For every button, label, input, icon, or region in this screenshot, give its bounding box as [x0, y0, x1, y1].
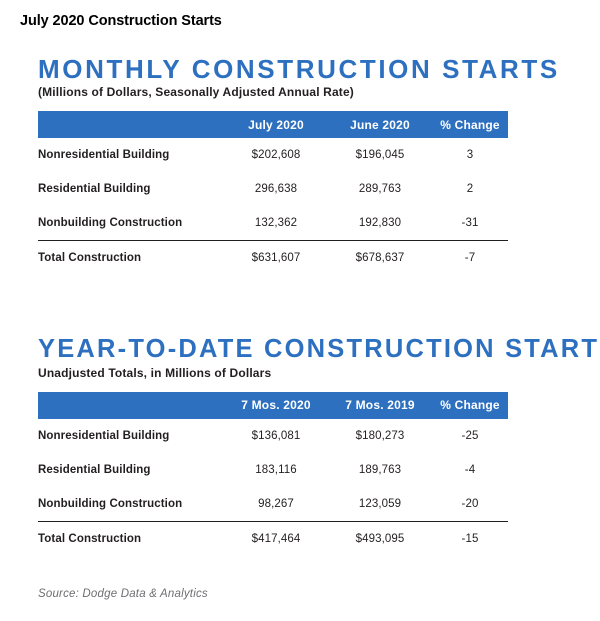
row-label: Nonresidential Building — [38, 138, 224, 172]
table-header-row: 7 Mos. 2020 7 Mos. 2019 % Change — [38, 392, 508, 419]
section-year-to-date-construction-starts: YEAR-TO-DATE CONSTRUCTION STARTS Unadjus… — [0, 336, 600, 556]
row-value-period-1: $136,081 — [224, 419, 328, 453]
total-value-period-2: $493,095 — [328, 521, 432, 556]
table-row: Residential Building 296,638 289,763 2 — [38, 172, 508, 206]
monthly-construction-table: July 2020 June 2020 % Change Nonresident… — [38, 111, 508, 275]
section-subtitle-monthly: (Millions of Dollars, Seasonally Adjuste… — [38, 85, 600, 99]
table-row: Nonresidential Building $136,081 $180,27… — [38, 419, 508, 453]
section-subtitle-ytd: Unadjusted Totals, in Millions of Dollar… — [38, 366, 600, 380]
section-heading-monthly: MONTHLY CONSTRUCTION STARTS — [38, 55, 600, 83]
section-monthly-construction-starts: MONTHLY CONSTRUCTION STARTS (Millions of… — [0, 55, 600, 275]
row-pct-change: -25 — [432, 419, 508, 453]
column-header-category — [38, 111, 224, 138]
row-pct-change: 3 — [432, 138, 508, 172]
section-heading-ytd: YEAR-TO-DATE CONSTRUCTION STARTS — [38, 336, 600, 364]
column-header-pct-change: % Change — [432, 111, 508, 138]
table-row: Nonresidential Building $202,608 $196,04… — [38, 138, 508, 172]
table-header-row: July 2020 June 2020 % Change — [38, 111, 508, 138]
row-label: Nonbuilding Construction — [38, 487, 224, 522]
total-pct-change: -15 — [432, 521, 508, 556]
total-label: Total Construction — [38, 241, 224, 276]
row-label: Residential Building — [38, 453, 224, 487]
table-row: Residential Building 183,116 189,763 -4 — [38, 453, 508, 487]
row-value-period-2: 189,763 — [328, 453, 432, 487]
row-label: Nonresidential Building — [38, 419, 224, 453]
total-value-period-1: $417,464 — [224, 521, 328, 556]
row-value-period-2: 289,763 — [328, 172, 432, 206]
total-value-period-1: $631,607 — [224, 241, 328, 276]
row-pct-change: 2 — [432, 172, 508, 206]
row-value-period-2: $196,045 — [328, 138, 432, 172]
row-value-period-1: $202,608 — [224, 138, 328, 172]
ytd-construction-table: 7 Mos. 2020 7 Mos. 2019 % Change Nonresi… — [38, 392, 508, 556]
column-header-category — [38, 392, 224, 419]
row-value-period-1: 183,116 — [224, 453, 328, 487]
row-pct-change: -4 — [432, 453, 508, 487]
row-value-period-1: 98,267 — [224, 487, 328, 522]
source-note: Source: Dodge Data & Analytics — [38, 588, 208, 600]
row-pct-change: -31 — [432, 206, 508, 241]
column-header-pct-change: % Change — [432, 392, 508, 419]
row-label: Residential Building — [38, 172, 224, 206]
table-total-row: Total Construction $417,464 $493,095 -15 — [38, 521, 508, 556]
table-row: Nonbuilding Construction 98,267 123,059 … — [38, 487, 508, 522]
row-pct-change: -20 — [432, 487, 508, 522]
column-header-period-2: June 2020 — [328, 111, 432, 138]
row-value-period-1: 296,638 — [224, 172, 328, 206]
column-header-period-1: 7 Mos. 2020 — [224, 392, 328, 419]
column-header-period-2: 7 Mos. 2019 — [328, 392, 432, 419]
page-title: July 2020 Construction Starts — [20, 13, 222, 29]
total-label: Total Construction — [38, 521, 224, 556]
column-header-period-1: July 2020 — [224, 111, 328, 138]
total-pct-change: -7 — [432, 241, 508, 276]
total-value-period-2: $678,637 — [328, 241, 432, 276]
table-total-row: Total Construction $631,607 $678,637 -7 — [38, 241, 508, 276]
row-value-period-2: $180,273 — [328, 419, 432, 453]
row-value-period-2: 192,830 — [328, 206, 432, 241]
row-value-period-2: 123,059 — [328, 487, 432, 522]
table-row: Nonbuilding Construction 132,362 192,830… — [38, 206, 508, 241]
row-label: Nonbuilding Construction — [38, 206, 224, 241]
row-value-period-1: 132,362 — [224, 206, 328, 241]
